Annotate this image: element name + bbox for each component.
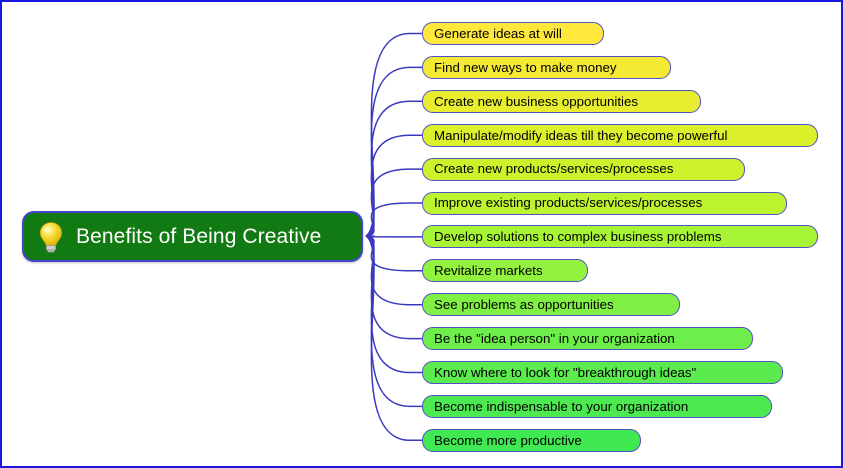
branch-node-label: Find new ways to make money: [434, 61, 617, 74]
connector-line: [366, 236, 422, 406]
branch-node-label: See problems as opportunities: [434, 298, 614, 311]
branch-node[interactable]: Generate ideas at will: [422, 22, 604, 45]
connector-line: [366, 236, 422, 271]
connector-line: [366, 203, 422, 236]
connector-line: [366, 67, 422, 236]
branch-node-label: Generate ideas at will: [434, 27, 562, 40]
branch-node[interactable]: Become more productive: [422, 429, 641, 452]
branch-node-label: Become indispensable to your organizatio…: [434, 400, 688, 413]
branch-node[interactable]: Be the "idea person" in your organizatio…: [422, 327, 753, 350]
mind-map-canvas: Benefits of Being Creative Generate idea…: [0, 0, 843, 468]
branch-node-label: Know where to look for "breakthrough ide…: [434, 366, 696, 379]
branch-node-label: Create new products/services/processes: [434, 162, 673, 175]
connector-line: [366, 236, 422, 237]
branch-node-label: Revitalize markets: [434, 264, 543, 277]
central-topic-label: Benefits of Being Creative: [76, 225, 321, 249]
connector-line: [366, 169, 422, 236]
connector-line: [366, 135, 422, 236]
central-topic-node[interactable]: Benefits of Being Creative: [22, 211, 363, 262]
connector-line: [366, 236, 422, 339]
connector-line: [366, 236, 422, 305]
branch-node-label: Develop solutions to complex business pr…: [434, 230, 722, 243]
branch-node-label: Create new business opportunities: [434, 95, 638, 108]
connector-line: [366, 236, 422, 373]
branch-node[interactable]: Become indispensable to your organizatio…: [422, 395, 772, 418]
branch-node[interactable]: Manipulate/modify ideas till they become…: [422, 124, 818, 147]
branch-node-label: Be the "idea person" in your organizatio…: [434, 332, 675, 345]
connector-line: [366, 34, 422, 237]
branch-node-label: Manipulate/modify ideas till they become…: [434, 129, 727, 142]
branch-node[interactable]: Create new products/services/processes: [422, 158, 745, 181]
connector-line: [366, 101, 422, 236]
branch-node[interactable]: Develop solutions to complex business pr…: [422, 225, 818, 248]
connector-line: [366, 236, 422, 440]
lightbulb-icon: [38, 221, 64, 253]
branch-node-label: Become more productive: [434, 434, 582, 447]
branch-node[interactable]: Create new business opportunities: [422, 90, 701, 113]
branch-node[interactable]: Find new ways to make money: [422, 56, 671, 79]
branch-node[interactable]: Revitalize markets: [422, 259, 588, 282]
branch-node-label: Improve existing products/services/proce…: [434, 196, 702, 209]
branch-node[interactable]: Know where to look for "breakthrough ide…: [422, 361, 783, 384]
branch-node[interactable]: Improve existing products/services/proce…: [422, 192, 787, 215]
branch-node[interactable]: See problems as opportunities: [422, 293, 680, 316]
